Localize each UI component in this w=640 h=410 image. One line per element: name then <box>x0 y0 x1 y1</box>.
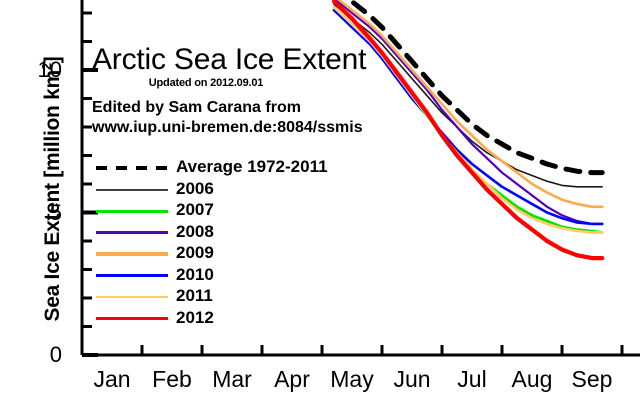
chart-canvas: Sea Ice Extent [million km2] 0510 JanFeb… <box>0 0 640 410</box>
chart-subtitle: Updated on 2012.09.01 <box>92 77 320 89</box>
x-tick-label-jul: Jul <box>439 368 505 391</box>
legend-label: 2010 <box>176 266 214 284</box>
legend-label: 2006 <box>176 180 214 198</box>
legend-label: 2008 <box>176 223 214 241</box>
credit-block: Edited by Sam Carana from www.iup.uni-br… <box>92 98 442 139</box>
legend-swatch-icon <box>96 317 168 320</box>
legend-swatch-icon <box>96 274 168 277</box>
legend-swatch-icon <box>96 296 168 298</box>
legend-swatch-icon <box>96 189 168 191</box>
x-tick-label-sep: Sep <box>559 368 625 391</box>
credit-line-2: www.iup.uni-bremen.de:8084/ssmis <box>92 118 442 138</box>
x-tick-label-aug: Aug <box>499 368 565 391</box>
legend-swatch-icon <box>96 166 168 170</box>
legend-label: 2007 <box>176 201 214 219</box>
legend-label: 2009 <box>176 244 214 262</box>
legend-swatch-icon <box>96 210 168 213</box>
x-tick-label-may: May <box>319 368 385 391</box>
legend-label: 2012 <box>176 309 214 327</box>
title-block: Arctic Sea Ice Extent Updated on 2012.09… <box>92 44 442 138</box>
page-title: Arctic Sea Ice Extent <box>92 44 442 76</box>
x-tick-label-jan: Jan <box>79 368 145 391</box>
legend-label: 2011 <box>176 287 213 305</box>
x-tick-label-feb: Feb <box>139 368 205 391</box>
credit-line-1: Edited by Sam Carana from <box>92 98 442 118</box>
legend-label: Average 1972-2011 <box>176 158 328 176</box>
legend-swatch-icon <box>96 252 168 256</box>
x-tick-label-mar: Mar <box>199 368 265 391</box>
x-tick-label-jun: Jun <box>379 368 445 391</box>
legend-swatch-icon <box>96 231 168 234</box>
x-tick-label-apr: Apr <box>259 368 325 391</box>
